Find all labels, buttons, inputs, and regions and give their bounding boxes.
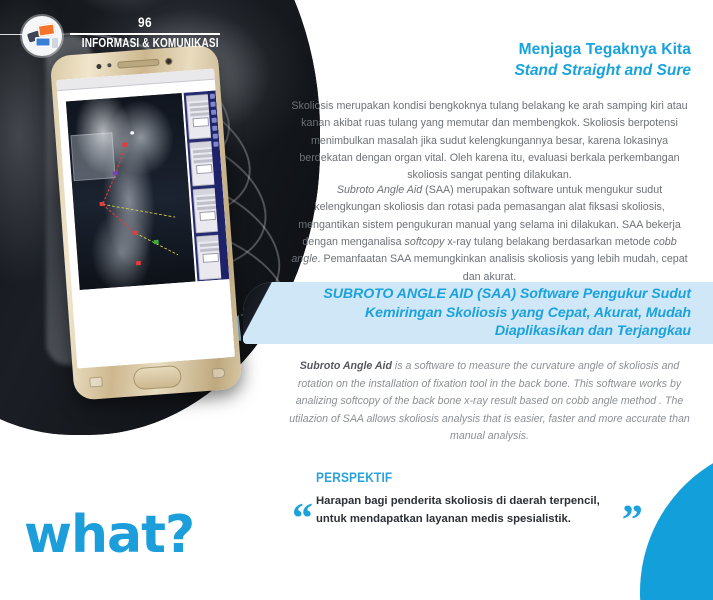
page-number: 96 (81, 14, 209, 30)
sensor-icon (107, 63, 111, 67)
phone-icon (35, 37, 51, 47)
decorative-blue-circle (640, 442, 713, 600)
app-blank-area (72, 279, 235, 368)
perspektif-heading: PERSPEKTIF (316, 470, 606, 485)
remote-icon (52, 38, 58, 48)
home-button[interactable] (133, 365, 182, 390)
title-english: Stand Straight and Sure (290, 61, 691, 82)
taskbar-icon[interactable] (210, 110, 215, 115)
paragraph-2-rest3: . Pemanfaatan SAA memungkinkan analisis … (318, 253, 688, 282)
taskbar-icon[interactable] (212, 126, 217, 131)
english-paragraph: Subroto Angle Aid is a software to measu… (288, 358, 691, 446)
perspektif-text: Harapan bagi penderita skoliosis di daer… (316, 493, 646, 528)
taskbar-icon[interactable] (211, 118, 216, 123)
page-header: 96 INFORMASI & KOMUNIKASI (0, 8, 230, 60)
banner-line-3: Diaplikasikan dan Terjangkau (323, 322, 691, 340)
sensor-icon (96, 63, 101, 68)
paragraph-2-lead: Subroto Angle Aid (337, 184, 422, 196)
perspektif-line-2: untuk mendapatkan layanan medis spesiali… (316, 511, 646, 529)
taskbar-icon[interactable] (212, 134, 217, 139)
english-paragraph-rest: is a software to measure the curvature a… (289, 360, 690, 442)
saa-app-screenshot (56, 69, 235, 369)
banner-line-2: Kemiringan Skoliosis yang Cepat, Akurat,… (323, 304, 691, 322)
perspektif-line-1: Harapan bagi penderita skoliosis di daer… (316, 493, 646, 511)
paragraph-2-italic-softcopy: softcopy (405, 236, 445, 248)
banner-text: SUBROTO ANGLE AID (SAA) Software Penguku… (323, 285, 713, 340)
perspektif-block: PERSPEKTIF Harapan bagi penderita skolio… (316, 470, 646, 528)
xray-viewer-canvas[interactable] (66, 93, 196, 290)
section-title: INFORMASI & KOMUNIKASI (82, 36, 208, 50)
highlight-banner: SUBROTO ANGLE AID (SAA) Software Penguku… (243, 282, 713, 344)
paragraph-2: Subroto Angle Aid (SAA) merupakan softwa… (288, 182, 691, 286)
taskbar-icon[interactable] (210, 102, 215, 107)
header-divider (70, 33, 220, 35)
paragraph-2-rest2: x-ray tulang belakang berdasarkan metode (444, 236, 653, 248)
taskbar-icon[interactable] (213, 142, 218, 147)
what-heading: what? (24, 505, 194, 565)
taskbar-icon[interactable] (209, 94, 214, 99)
cobb-angle-overlay (66, 93, 196, 290)
smartphone-mockup (50, 44, 243, 400)
banner-line-1: SUBROTO ANGLE AID (SAA) Software Penguku… (323, 285, 691, 303)
quote-open-icon: “ (292, 504, 313, 534)
recent-apps-key-icon[interactable] (89, 377, 103, 388)
phone-screen[interactable] (56, 69, 235, 369)
monitor-icon (37, 23, 56, 37)
english-paragraph-lead: Subroto Angle Aid (300, 360, 392, 372)
magazine-page: 96 INFORMASI & KOMUNIKASI Menjaga Tegakn… (0, 0, 713, 600)
title-indonesian: Menjaga Tegaknya Kita (290, 40, 691, 61)
article-title: Menjaga Tegaknya Kita Stand Straight and… (290, 40, 691, 82)
paragraph-1: Skoliosis merupakan kondisi bengkoknya t… (288, 98, 691, 185)
devices-icon (22, 16, 62, 56)
